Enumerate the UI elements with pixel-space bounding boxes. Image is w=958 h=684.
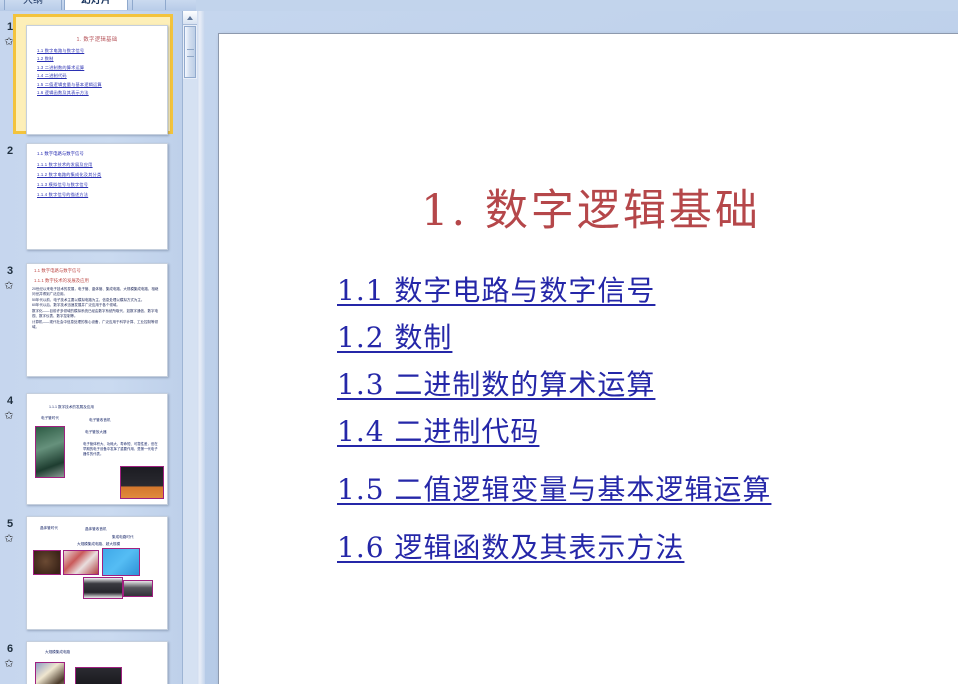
link-row-6: 1.6 逻辑函数及其表示方法 xyxy=(337,526,943,566)
slide-6-number: 6 xyxy=(2,643,18,655)
thumbnail-slide-5[interactable]: 5 ✩ 晶体管时代 晶体管收音机 集成电路时代 大规模集成电路、超大规模 xyxy=(8,516,173,634)
slide-5-caption-3: 集成电路时代 xyxy=(112,535,134,540)
star-transition-icon[interactable]: ✩ xyxy=(1,279,17,293)
slide-link-list: 1.1 数字电路与数字信号 1.2 数制 1.3 二进制数的算术运算 1.4 二… xyxy=(337,269,943,573)
star-transition-icon[interactable]: ✩ xyxy=(1,409,17,423)
slide-thumbnail-pane[interactable]: 1 ✩ 1. 数字逻辑基础 1.1 数字电路与数字信号 1.2 数制 1.3 二… xyxy=(0,11,182,684)
star-transition-icon[interactable]: ✩ xyxy=(1,532,17,546)
tab-extra[interactable] xyxy=(132,0,166,10)
scrollbar-track[interactable] xyxy=(183,79,197,684)
slide-3-number: 3 xyxy=(2,265,18,277)
slide-hyperlink-1-1[interactable]: 1.1 数字电路与数字信号 xyxy=(337,269,655,309)
slide-hyperlink-1-3[interactable]: 1.3 二进制数的算术运算 xyxy=(337,363,655,403)
slide-1-link-5: 1.5 二值逻辑变量与基本逻辑运算 xyxy=(37,82,167,88)
slide-1-title: 1. 数字逻辑基础 xyxy=(27,35,167,43)
slide-4-preview[interactable]: 1.1.1 数字技术的发展及应用 电子管时代 电子管收音机 电子管放大器 电子管… xyxy=(26,393,168,505)
thumbnail-slide-6[interactable]: 6 ✩ 大规模集成电路 xyxy=(8,641,173,684)
slide-3-body-1: 20世纪以来电子技术的发展，电子管、晶体管、集成电路、大规模集成电路，相继问世并… xyxy=(32,287,161,298)
slide-1-link-4: 1.4 二进制代码 xyxy=(37,73,167,79)
wafer-photo xyxy=(102,548,140,576)
thumbnail-slide-2[interactable]: 2 1.1 数字电路与数字信号 1.1.1 数字技术的发展及应用 1.1.2 数… xyxy=(8,143,173,253)
slide-4-body: 电子管体积大、功耗大、寿命短、可靠性差，但在早期的电子设备中发挥了重要作用，是第… xyxy=(83,442,159,457)
scroll-up-arrow-icon[interactable] xyxy=(183,11,197,25)
slide-hyperlink-1-5[interactable]: 1.5 二值逻辑变量与基本逻辑运算 xyxy=(337,468,771,508)
vacuum-tube-photo xyxy=(35,426,65,478)
slide-5-caption-4: 大规模集成电路、超大规模 xyxy=(77,542,120,547)
slide-hyperlink-1-2[interactable]: 1.2 数制 xyxy=(337,316,452,356)
slide-2-heading: 1.1 数字电路与数字信号 xyxy=(37,151,167,157)
slide-hyperlink-1-4[interactable]: 1.4 二进制代码 xyxy=(337,410,539,450)
slide-workspace: 1. 数字逻辑基础 1.1 数字电路与数字信号 1.2 数制 1.3 二进制数的… xyxy=(205,11,958,684)
thumbnail-slide-3[interactable]: 3 ✩ 1.1 数字电路与数字信号 1.1.1 数字技术的发展及应用 20世纪以… xyxy=(8,263,173,381)
slide-2-link-1: 1.1.1 数字技术的发展及应用 xyxy=(37,162,167,168)
circuit-board-photo xyxy=(35,662,65,684)
transistor-board-photo xyxy=(63,550,99,575)
slide-5-preview[interactable]: 晶体管时代 晶体管收音机 集成电路时代 大规模集成电路、超大规模 xyxy=(26,516,168,630)
slide-1-link-3: 1.3 二进制数的算术运算 xyxy=(37,65,167,71)
tab-slides[interactable]: 幻灯片 xyxy=(64,0,128,10)
slide-5-caption-1: 晶体管时代 xyxy=(40,526,58,531)
tube-amplifier-photo xyxy=(120,466,164,499)
slide-3-body-5: 计算机——现代社会中信息处理的核心设备，广泛应用于科学计算、工业控制等领域。 xyxy=(32,320,161,331)
tab-outline[interactable]: 大纲 xyxy=(4,0,62,10)
slide-6-heading: 大规模集成电路 xyxy=(45,650,70,655)
thumbnail-slide-1[interactable]: 1 ✩ 1. 数字逻辑基础 1.1 数字电路与数字信号 1.2 数制 1.3 二… xyxy=(8,19,173,141)
slide-6-preview[interactable]: 大规模集成电路 xyxy=(26,641,168,684)
slide-3-heading: 1.1 数字电路与数字信号 xyxy=(34,268,167,274)
link-row-3: 1.3 二进制数的算术运算 xyxy=(337,363,943,403)
slide-4-number: 4 xyxy=(2,395,18,407)
slide-1-preview[interactable]: 1. 数字逻辑基础 1.1 数字电路与数字信号 1.2 数制 1.3 二进制数的… xyxy=(26,25,168,135)
link-row-2: 1.2 数制 xyxy=(337,316,943,356)
slide-2-link-4: 1.1.4 数字信号的描述方法 xyxy=(37,192,167,198)
slide-1-link-1: 1.1 数字电路与数字信号 xyxy=(37,48,167,54)
dip-chip-photo xyxy=(83,577,123,599)
slide-3-preview[interactable]: 1.1 数字电路与数字信号 1.1.1 数字技术的发展及应用 20世纪以来电子技… xyxy=(26,263,168,377)
slide-1-link-2: 1.2 数制 xyxy=(37,56,167,62)
scrollbar-thumb[interactable] xyxy=(184,26,196,78)
slide-3-body-4: 数字化——目前许多领域的模拟系统已经由数字系统所取代，如数字通信、数字电视、数字… xyxy=(32,309,161,320)
slide-2-link-2: 1.1.2 数字电路的集成化及其分类 xyxy=(37,172,167,178)
slide-2-number: 2 xyxy=(2,145,18,157)
slide-4-heading: 1.1.1 数字技术的发展及应用 xyxy=(49,405,94,410)
slide-4-caption-3: 电子管放大器 xyxy=(85,430,107,435)
slide-hyperlink-1-6[interactable]: 1.6 逻辑函数及其表示方法 xyxy=(337,526,684,566)
slide-5-number: 5 xyxy=(2,518,18,530)
slide-3-subheading: 1.1.1 数字技术的发展及应用 xyxy=(34,278,167,284)
slide-1-number: 1 xyxy=(2,21,18,33)
power-transistor-photo xyxy=(33,550,61,575)
current-slide[interactable]: 1. 数字逻辑基础 1.1 数字电路与数字信号 1.2 数制 1.3 二进制数的… xyxy=(218,33,958,684)
slide-5-caption-2: 晶体管收音机 xyxy=(85,527,107,532)
slide-2-preview[interactable]: 1.1 数字电路与数字信号 1.1.1 数字技术的发展及应用 1.1.2 数字电… xyxy=(26,143,168,250)
slide-1-link-6: 1.6 逻辑函数及其表示方法 xyxy=(37,90,167,96)
slide-4-caption-2: 电子管收音机 xyxy=(89,418,111,423)
link-row-5: 1.5 二值逻辑变量与基本逻辑运算 xyxy=(337,468,943,508)
smd-chip-photo xyxy=(123,580,153,597)
star-transition-icon[interactable]: ✩ xyxy=(1,35,17,49)
slide-2-link-3: 1.1.3 模拟信号与数字信号 xyxy=(37,182,167,188)
star-transition-icon[interactable]: ✩ xyxy=(1,657,17,671)
tab-slides-label: 幻灯片 xyxy=(81,0,111,6)
slide-4-caption-1: 电子管时代 xyxy=(41,416,59,421)
pane-splitter[interactable] xyxy=(197,11,205,684)
thumbnail-pane-scrollbar[interactable] xyxy=(182,11,198,684)
powerpoint-window: 大纲 幻灯片 1 ✩ 1. 数字逻辑基础 1.1 数字电路与数字信号 1.2 数… xyxy=(0,0,958,684)
link-row-1: 1.1 数字电路与数字信号 xyxy=(337,269,943,309)
link-row-4: 1.4 二进制代码 xyxy=(337,410,943,450)
tab-outline-label: 大纲 xyxy=(23,0,43,6)
thumbnail-slide-4[interactable]: 4 ✩ 1.1.1 数字技术的发展及应用 电子管时代 电子管收音机 电子管放大器… xyxy=(8,393,173,508)
slide-title: 1. 数字逻辑基础 xyxy=(219,176,958,238)
ic-chip-photo xyxy=(75,667,122,684)
